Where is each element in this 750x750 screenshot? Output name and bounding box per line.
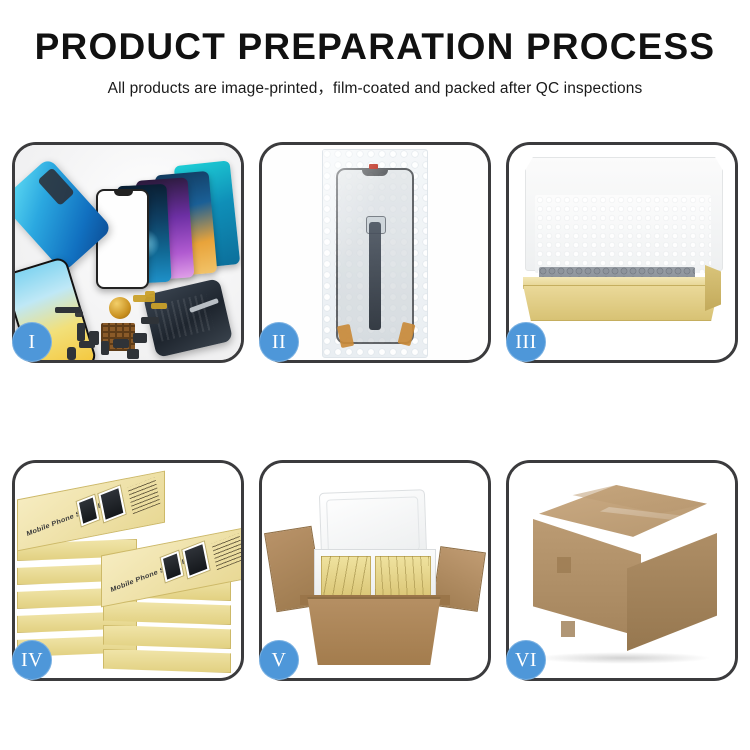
box-edge-lines [321,556,369,600]
step-4-image: Mobile Phone Spare Parts Mobile Phone Sp… [15,463,241,678]
screen-window-graphic [97,484,127,523]
flex-cable-icon [151,303,167,309]
spec-lines [212,533,241,570]
chip-part-icon [141,317,159,324]
chip-part-icon [67,347,76,360]
copper-coil-icon [109,297,131,319]
chip-part-icon [79,341,95,348]
screen-window-graphic [181,540,211,579]
phone-white-front-icon [96,189,149,289]
kraft-box-side-icon [705,265,721,311]
spec-lines [128,477,161,514]
carton-shadow [535,652,711,664]
step-3-image [509,145,735,360]
step-5-image [262,463,488,678]
page-title: PRODUCT PREPARATION PROCESS [0,28,750,67]
carton-right-face-icon [627,533,717,651]
step-6-image [509,463,735,678]
chip-part-icon [77,323,85,341]
carton-corner-tab-icon [557,557,571,573]
step-badge-2: II [259,322,299,362]
top-box-face-rear: Mobile Phone Spare Parts [17,471,165,552]
step-panel-5[interactable]: V [259,460,491,681]
step-2-image [262,145,488,360]
chip-part-icon [133,333,147,343]
step-panel-4[interactable]: Mobile Phone Spare Parts Mobile Phone Sp… [12,460,244,681]
step-1-image [15,145,241,360]
flex-cable-icon [145,291,155,297]
steps-grid: I II [12,142,738,681]
step-panel-6[interactable]: VI [506,460,738,681]
step-badge-1: I [12,322,52,362]
carton-left-face-icon [533,519,641,637]
step-badge-4: IV [12,640,52,680]
box-edge-lines [375,556,429,600]
screen-window-graphic [76,494,101,528]
stacked-box-edge [103,649,231,673]
plastic-sheen [323,150,427,357]
step-badge-3: III [506,322,546,362]
chip-part-icon [113,339,129,348]
step-panel-3[interactable]: III [506,142,738,363]
bubble-wrap-bag-icon [322,149,428,358]
screen-window-graphic [160,550,185,584]
header: PRODUCT PREPARATION PROCESS All products… [0,0,750,98]
step-badge-6: VI [506,640,546,680]
carton-front-icon [300,597,448,665]
product-preparation-infographic: PRODUCT PREPARATION PROCESS All products… [0,0,750,750]
chip-part-icon [101,341,109,355]
white-foam-sheet-icon [535,195,711,273]
page-subtitle: All products are image-printed，film-coat… [0,76,750,98]
step-badge-5: V [259,640,299,680]
kraft-box-front-icon [523,285,719,321]
step-panel-1[interactable]: I [12,142,244,363]
flex-cable-icon [75,311,83,317]
carton-corner-tab-icon [561,621,575,637]
chip-part-icon [127,349,139,359]
step-panel-2[interactable]: II [259,142,491,363]
box-stack-icon: Mobile Phone Spare Parts Mobile Phone Sp… [15,463,241,678]
